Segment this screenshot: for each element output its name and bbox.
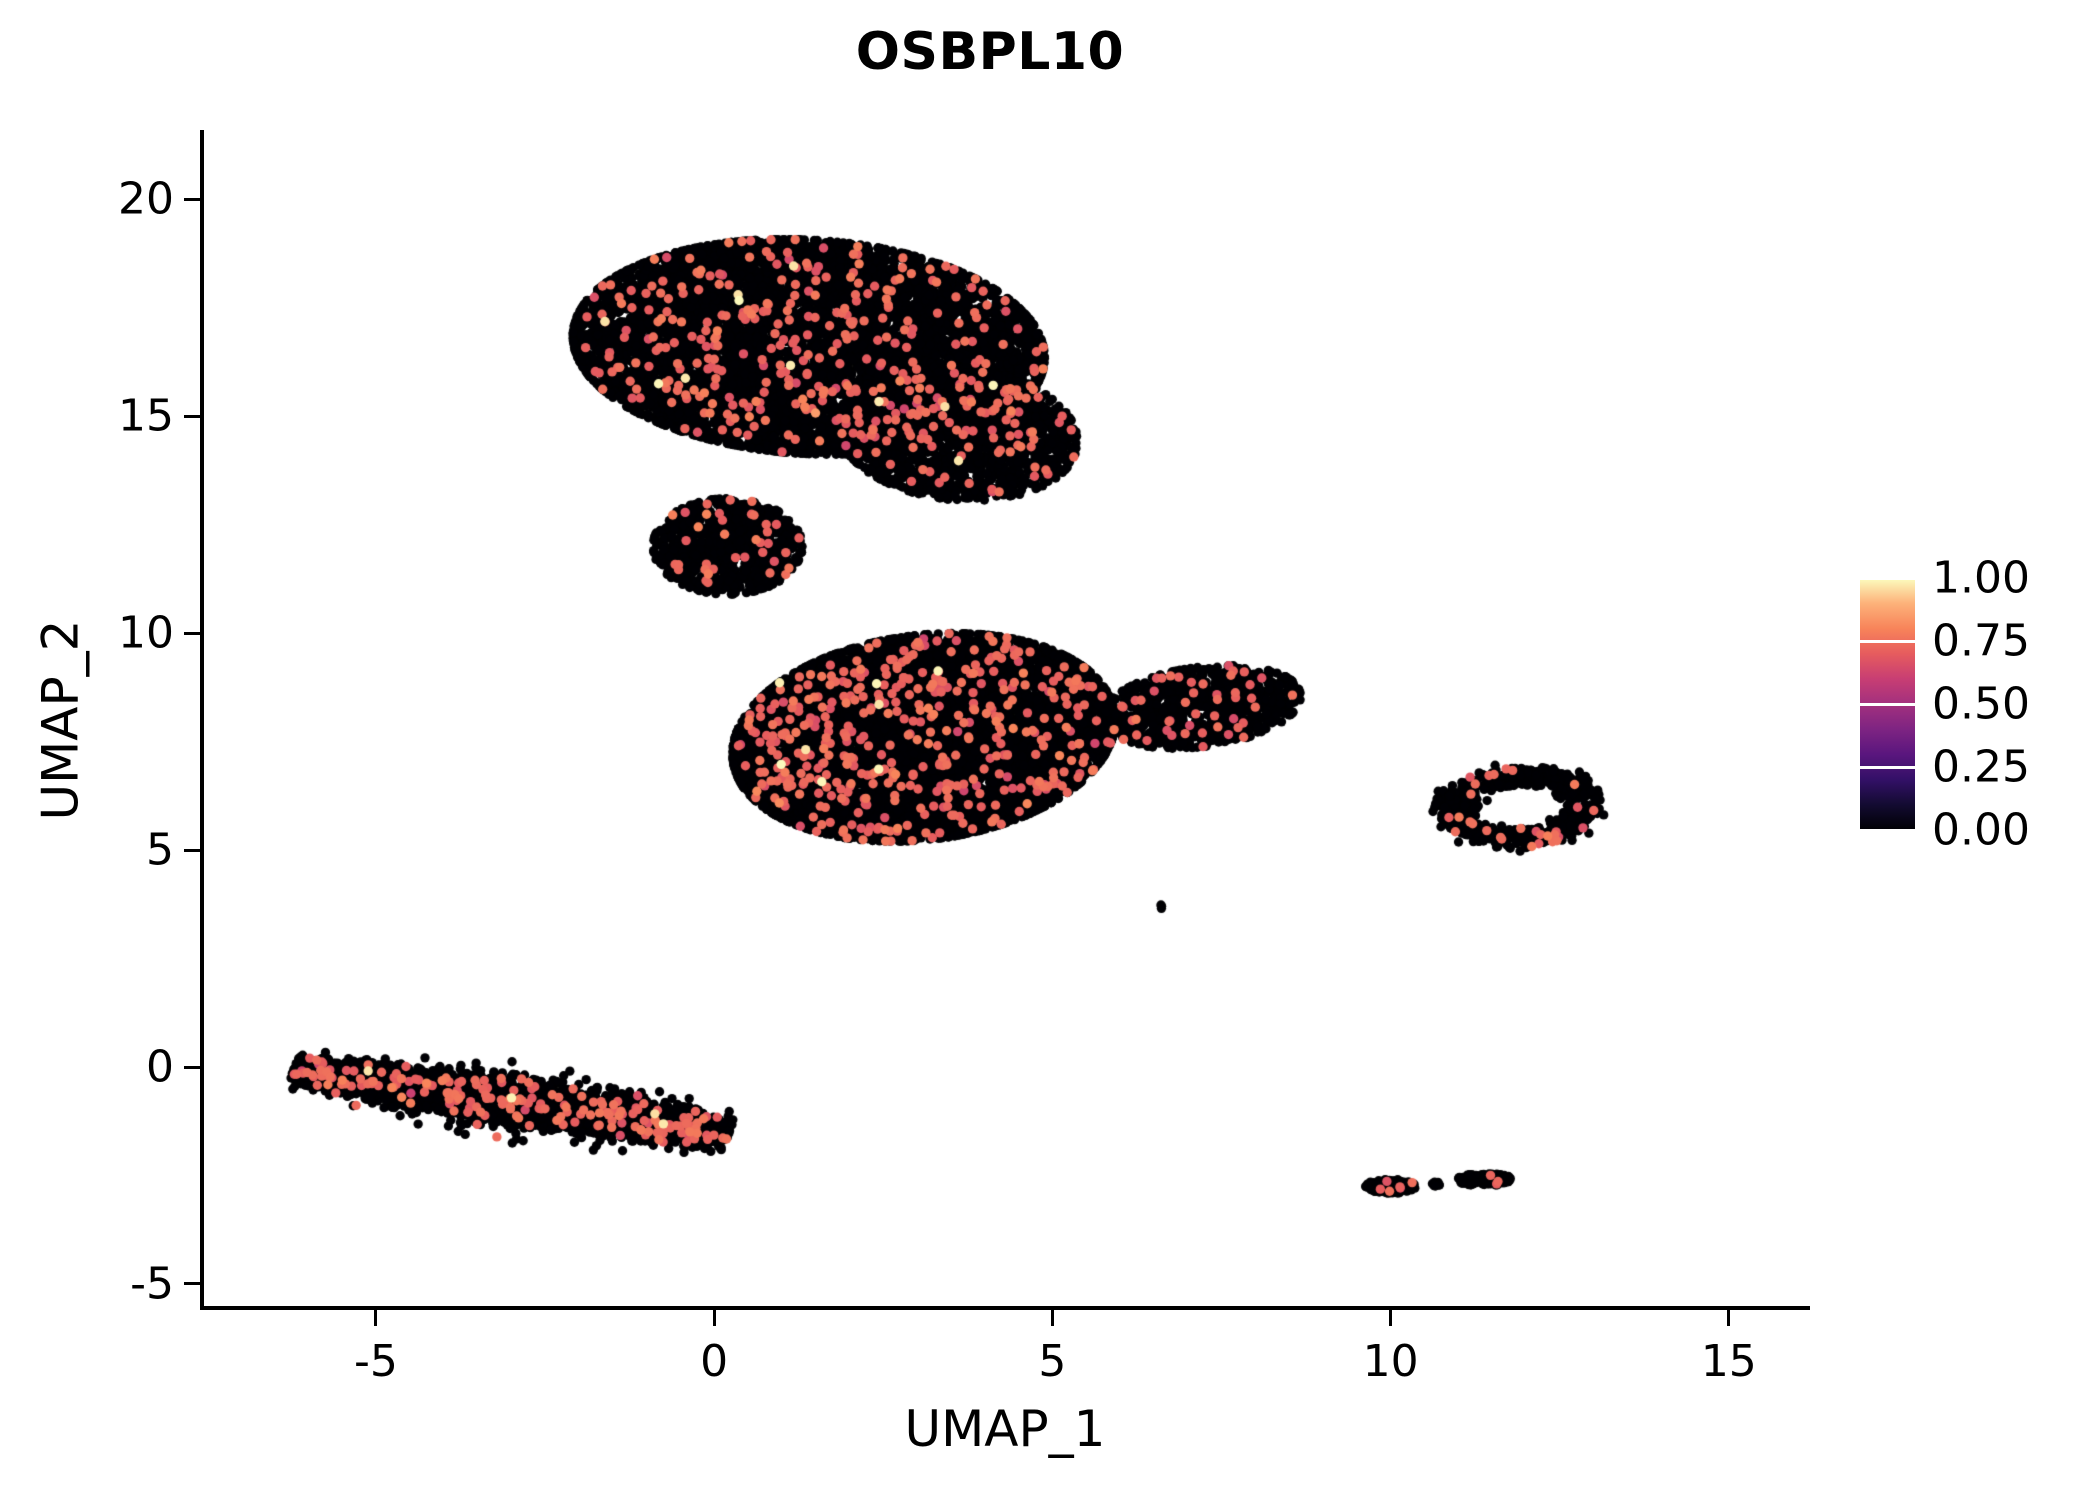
- colorbar-tick-label: 0.25: [1932, 742, 2030, 793]
- colorbar-tick-label: 0.50: [1932, 679, 2030, 730]
- x-tick-mark: [1389, 1310, 1392, 1326]
- x-axis-label: UMAP_1: [200, 1400, 1810, 1458]
- y-tick-mark: [184, 198, 200, 201]
- y-tick-label: 5: [146, 825, 174, 876]
- x-tick-mark: [374, 1310, 377, 1326]
- colorbar-tick-mark: [1860, 766, 1915, 769]
- y-tick-label: -5: [130, 1258, 174, 1309]
- y-tick-mark: [184, 415, 200, 418]
- colorbar-tick-mark: [1860, 640, 1915, 643]
- colorbar-tick-mark: [1860, 829, 1915, 832]
- x-tick-label: 0: [700, 1336, 728, 1387]
- colorbar-tick-mark: [1860, 577, 1915, 580]
- x-tick-mark: [1727, 1310, 1730, 1326]
- y-axis-label-text: UMAP_2: [31, 620, 89, 821]
- y-tick-label: 20: [118, 174, 174, 225]
- y-tick-mark: [184, 632, 200, 635]
- y-tick-label: 15: [118, 391, 174, 442]
- axis-spine-bottom: [200, 1306, 1810, 1310]
- page-title: OSBPL10: [150, 22, 1830, 82]
- x-tick-label: -5: [354, 1336, 398, 1387]
- x-tick-label: 10: [1363, 1336, 1419, 1387]
- umap-figure: OSBPL10 -505101520 -5051015 UMAP_2 UMAP_…: [0, 0, 2100, 1500]
- plot-axes: -505101520 -5051015: [200, 130, 1810, 1310]
- x-tick-label: 5: [1038, 1336, 1066, 1387]
- y-tick-mark: [184, 849, 200, 852]
- y-axis-label: UMAP_2: [30, 130, 90, 1310]
- y-tick-label: 0: [146, 1042, 174, 1093]
- scatter-plot-canvas: [200, 130, 1810, 1310]
- y-tick-mark: [184, 1282, 200, 1285]
- colorbar-tick-label: 0.00: [1932, 805, 2030, 856]
- x-tick-label: 15: [1701, 1336, 1757, 1387]
- y-tick-mark: [184, 1066, 200, 1069]
- x-tick-mark: [713, 1310, 716, 1326]
- axis-spine-left: [200, 130, 204, 1310]
- colorbar-tick-mark: [1860, 703, 1915, 706]
- colorbar: 0.000.250.500.751.00: [1860, 578, 2080, 918]
- y-tick-label: 10: [118, 608, 174, 659]
- colorbar-tick-label: 0.75: [1932, 616, 2030, 667]
- x-tick-mark: [1051, 1310, 1054, 1326]
- colorbar-tick-label: 1.00: [1932, 553, 2030, 604]
